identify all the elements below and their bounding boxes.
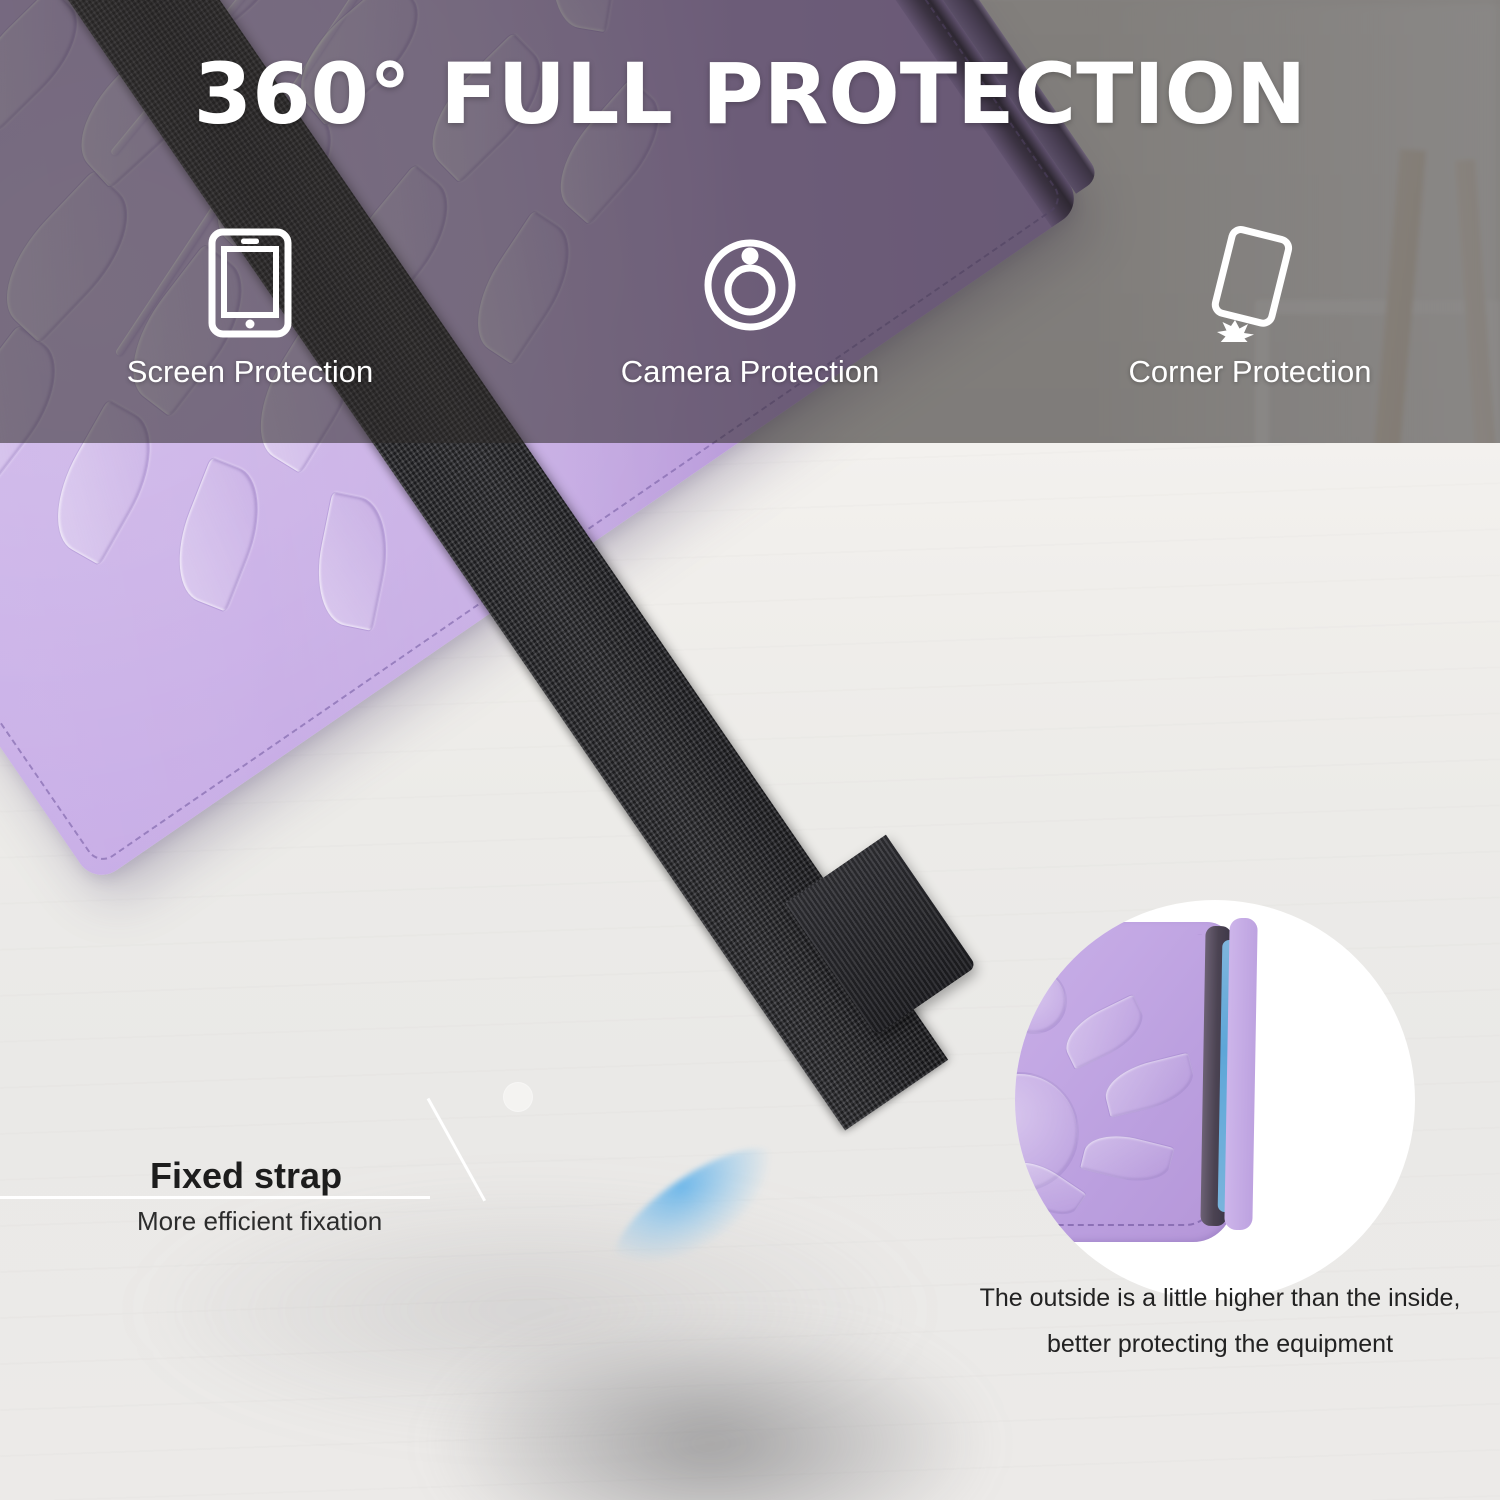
feature-label: Corner Protection	[1129, 354, 1372, 390]
corner-closeup-inset	[1015, 900, 1415, 1300]
inset-raised-lip	[1224, 918, 1257, 1230]
bottom-shadow	[430, 1340, 990, 1500]
inset-caption-line-1: The outside is a little higher than the …	[960, 1275, 1480, 1321]
feature-camera-protection: Camera Protection	[500, 225, 1000, 390]
feature-label: Screen Protection	[127, 354, 373, 390]
callout-marker-dot	[504, 1083, 532, 1111]
feature-screen-protection: Screen Protection	[0, 225, 500, 390]
inset-caption-line-2: better protecting the equipment	[960, 1321, 1480, 1367]
inset-caption: The outside is a little higher than the …	[960, 1275, 1480, 1368]
page-title: 360° FULL PROTECTION	[0, 52, 1500, 136]
feature-corner-protection: Corner Protection	[1000, 225, 1500, 390]
tablet-screen-icon	[207, 225, 293, 340]
callout-subtitle: More efficient fixation	[137, 1206, 382, 1237]
inset-stitching	[1015, 934, 1217, 1226]
camera-lens-icon	[697, 225, 803, 340]
callout-title: Fixed strap	[150, 1155, 342, 1197]
feature-label: Camera Protection	[621, 354, 879, 390]
tablet-corner-impact-icon	[1192, 225, 1308, 340]
product-feature-image: 360° FULL PROTECTION Screen Protection	[0, 0, 1500, 1500]
feature-row: Screen Protection Camera Protection	[0, 225, 1500, 390]
